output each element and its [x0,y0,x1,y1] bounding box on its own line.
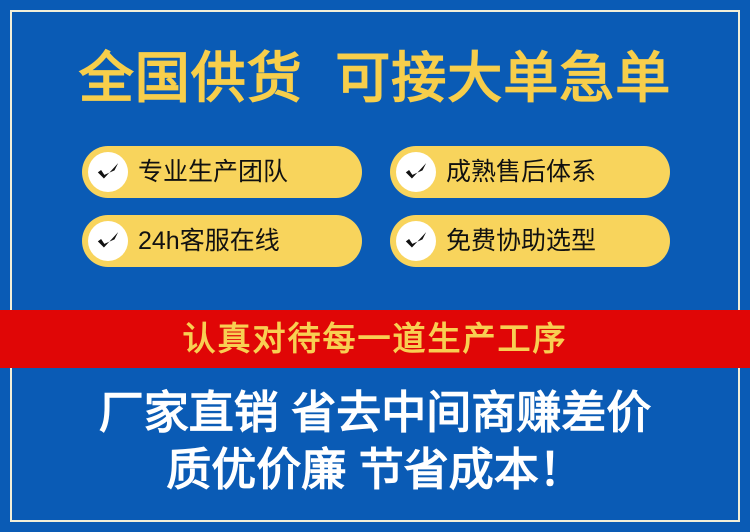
check-icon [88,221,128,261]
check-icon [88,152,128,192]
feature-pill-professional-team[interactable]: 专业生产团队 [82,146,362,198]
slogan-ribbon: 认真对待每一道生产工序 [0,310,750,368]
feature-pill-free-model-selection[interactable]: 免费协助选型 [390,215,670,267]
check-icon [396,221,436,261]
feature-pill-label: 免费协助选型 [446,226,596,256]
feature-pill-after-sales-system[interactable]: 成熟售后体系 [390,146,670,198]
check-icon [396,152,436,192]
feature-pill-label: 24h客服在线 [138,226,280,256]
feature-pill-label: 成熟售后体系 [446,157,596,187]
bottom-slogan-block: 厂家直销 省去中间商赚差价 质优价廉 节省成本！ [0,384,750,498]
bottom-slogan-line-1: 厂家直销 省去中间商赚差价 [0,384,750,441]
feature-pill-24h-support[interactable]: 24h客服在线 [82,215,362,267]
promo-banner: 全国供货 可接大单急单 专业生产团队 成熟售后体系 [0,0,750,532]
feature-pill-label: 专业生产团队 [138,157,288,187]
bottom-slogan-line-2: 质优价廉 节省成本！ [0,441,750,498]
feature-pill-grid: 专业生产团队 成熟售后体系 24h客服在线 [82,146,670,267]
page-title: 全国供货 可接大单急单 [0,46,750,110]
slogan-ribbon-text: 认真对待每一道生产工序 [183,320,568,358]
